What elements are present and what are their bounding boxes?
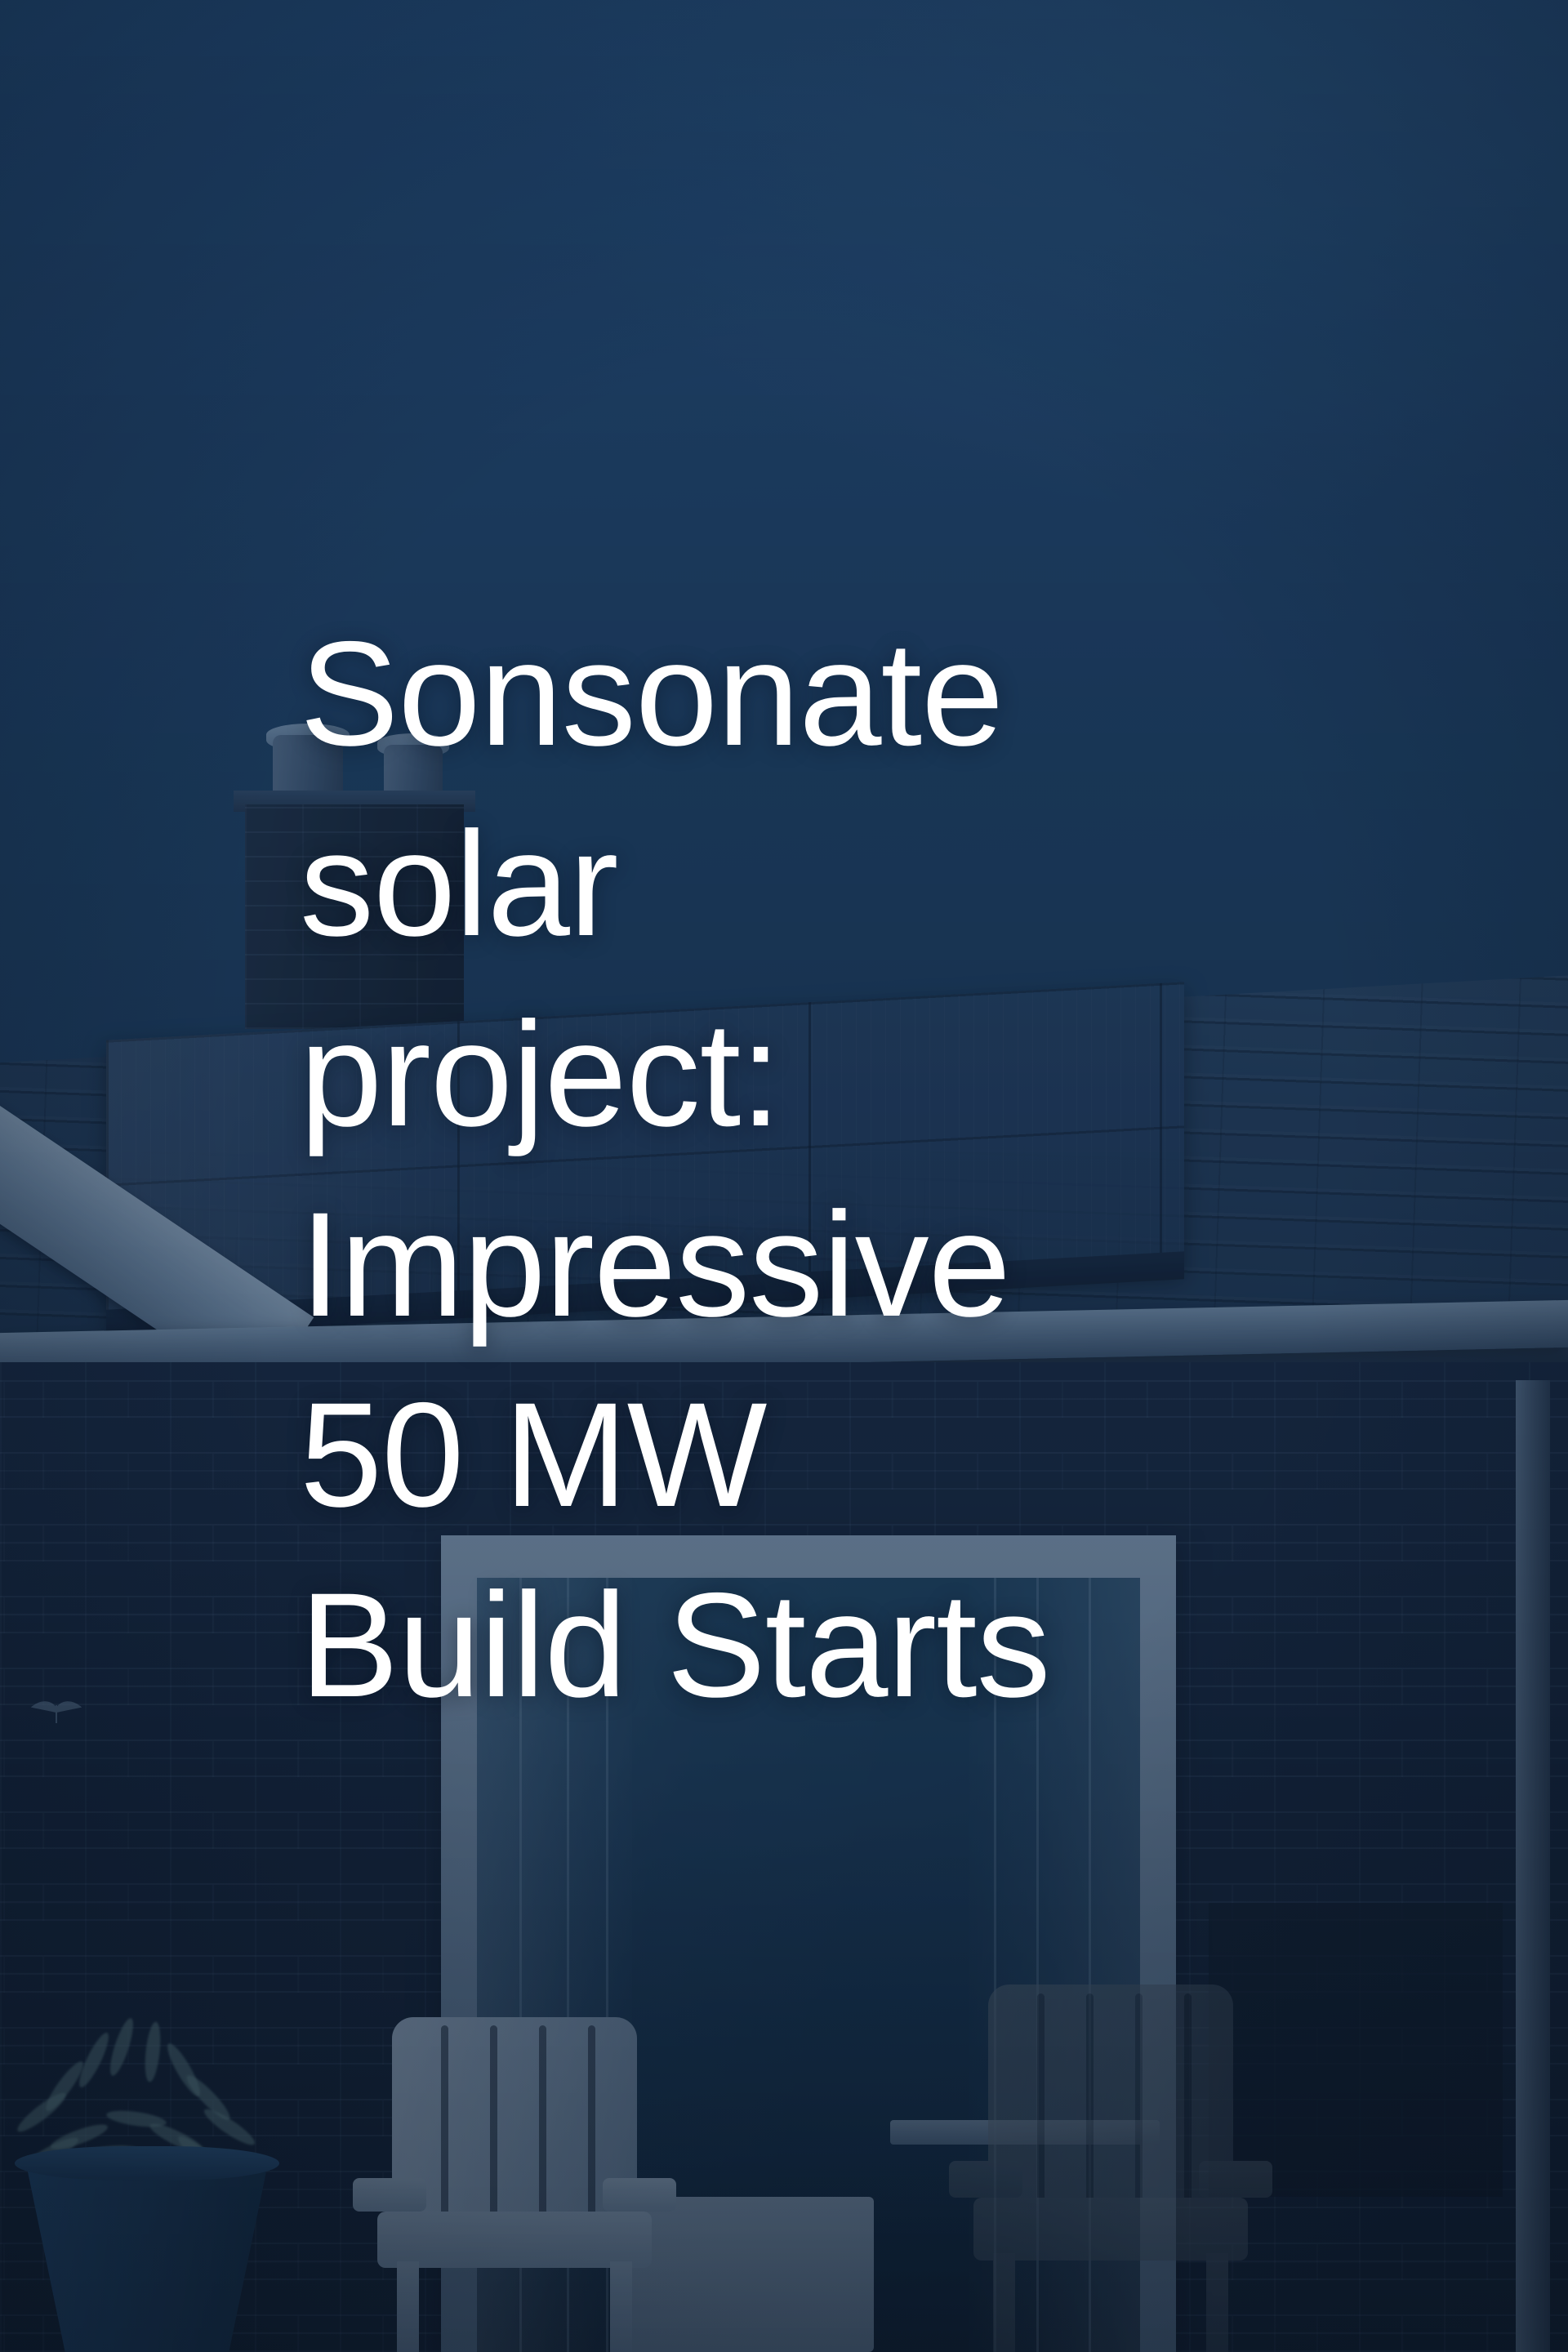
chair-leg-right [610, 2261, 632, 2352]
chair-arm-right [1199, 2161, 1272, 2198]
chair-arm-left [949, 2161, 1022, 2198]
downspout [1516, 1380, 1550, 2352]
page-title: Sonsonate solar project: Impressive 50 M… [300, 599, 1312, 1740]
dark-recess [1209, 1903, 1503, 2197]
chair-arm-right [603, 2178, 676, 2212]
chair-back [988, 1984, 1233, 2212]
planter-rim [15, 2146, 279, 2180]
chair-leg-left [993, 2253, 1015, 2352]
side-table [621, 2197, 874, 2352]
eagle-ornament-icon [31, 1699, 82, 1726]
hero-card: Sonsonate solar project: Impressive 50 M… [0, 0, 1568, 2352]
planter-pot [24, 2156, 269, 2352]
chair-leg-left [397, 2261, 419, 2352]
chair-seat [377, 2212, 652, 2269]
adirondack-chair-left [392, 2017, 637, 2352]
chair-arm-left [353, 2178, 426, 2212]
adirondack-chair-right [988, 1984, 1233, 2352]
chair-back [392, 2017, 637, 2225]
chair-seat [973, 2198, 1248, 2261]
chair-leg-right [1206, 2253, 1228, 2352]
